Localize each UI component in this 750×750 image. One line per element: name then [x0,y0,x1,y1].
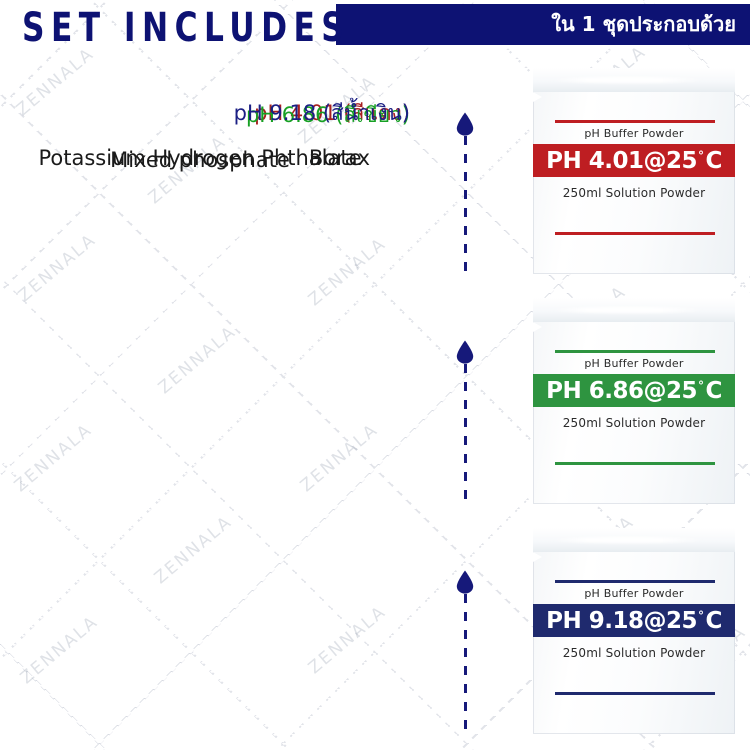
packet-band-degree-2: ° [698,379,704,393]
watermark-text: ZENNALA [151,512,237,588]
packet-band-ph-3: PH 9.18@25 [546,608,697,634]
packet-bottom-text-3: 250ml Solution Powder [533,646,735,660]
connector-2 [452,340,478,500]
dashed-connector-line-2 [464,364,467,500]
packet-band-ph-2: PH 6.86@25 [546,378,697,404]
packet-top-text-3: pH Buffer Powder [533,587,735,600]
watermark-text: ZENNALA [155,322,241,398]
packet-notch-1 [533,92,542,102]
packet-bottom-text-2: 250ml Solution Powder [533,416,735,430]
water-droplet-icon [456,570,474,594]
item-label-block-3: pH 9.18 (สีน้ำเงิน) Borax [0,98,410,173]
watermark-text: ZENNALA [17,612,103,688]
packet-band-text-1: PH 4.01@25°C [546,148,722,174]
packet-rule-top-3 [555,580,715,583]
packet-notch-3 [533,552,542,562]
connector-1 [452,112,478,272]
packet-top-text-1: pH Buffer Powder [533,127,735,140]
packet-seal-2 [533,298,735,322]
packet-top-text-2: pH Buffer Powder [533,357,735,370]
watermark-text: ZENNALA [305,602,391,678]
packet-band-unit-3: C [705,608,721,634]
packet-band-3: PH 9.18@25°C [533,604,735,637]
header-thai-label: ใน 1 ชุดประกอบด้วย [551,6,736,42]
watermark-text: ZENNALA [11,420,97,496]
packet-band-text-3: PH 9.18@25°C [546,608,722,634]
packet-rule-bottom-2 [555,462,715,465]
packet-band-unit-2: C [705,378,721,404]
packet-band-unit-1: C [705,148,721,174]
packet-bottom-text-1: 250ml Solution Powder [533,186,735,200]
header: SET INCLUDES ใน 1 ชุดประกอบด้วย [0,0,750,52]
packet-band-degree-3: ° [698,609,704,623]
product-packet-2: pH Buffer Powder PH 6.86@25°C 250ml Solu… [533,298,735,504]
chemical-name-3: Borax [0,143,410,173]
packet-band-2: PH 6.86@25°C [533,374,735,407]
packet-band-ph-1: PH 4.01@25 [546,148,697,174]
packet-seal-3 [533,528,735,552]
packet-notch-2 [533,322,542,332]
packet-rule-bottom-3 [555,692,715,695]
product-packet-1: pH Buffer Powder PH 4.01@25°C 250ml Solu… [533,68,735,274]
packet-band-degree-1: ° [698,149,704,163]
water-droplet-icon [456,340,474,364]
packet-rule-top-1 [555,120,715,123]
watermark-text: ZENNALA [297,420,383,496]
packet-rule-top-2 [555,350,715,353]
product-info-graphic: ZENNALA ZENNALA ZENNALA ZENNALA ZENNALA … [0,0,750,750]
watermark-text: ZENNALA [15,230,101,306]
packet-rule-bottom-1 [555,232,715,235]
dashed-connector-line-1 [464,136,467,272]
connector-3 [452,570,478,730]
page-title: SET INCLUDES [22,2,350,54]
packet-band-text-2: PH 6.86@25°C [546,378,722,404]
ph-value-label-3: pH 9.18 (สีน้ำเงิน) [0,98,410,128]
dashed-connector-line-3 [464,594,467,730]
water-droplet-icon [456,112,474,136]
packet-seal-1 [533,68,735,92]
watermark-text: ZENNALA [305,234,391,310]
product-packet-3: pH Buffer Powder PH 9.18@25°C 250ml Solu… [533,528,735,734]
packet-band-1: PH 4.01@25°C [533,144,735,177]
